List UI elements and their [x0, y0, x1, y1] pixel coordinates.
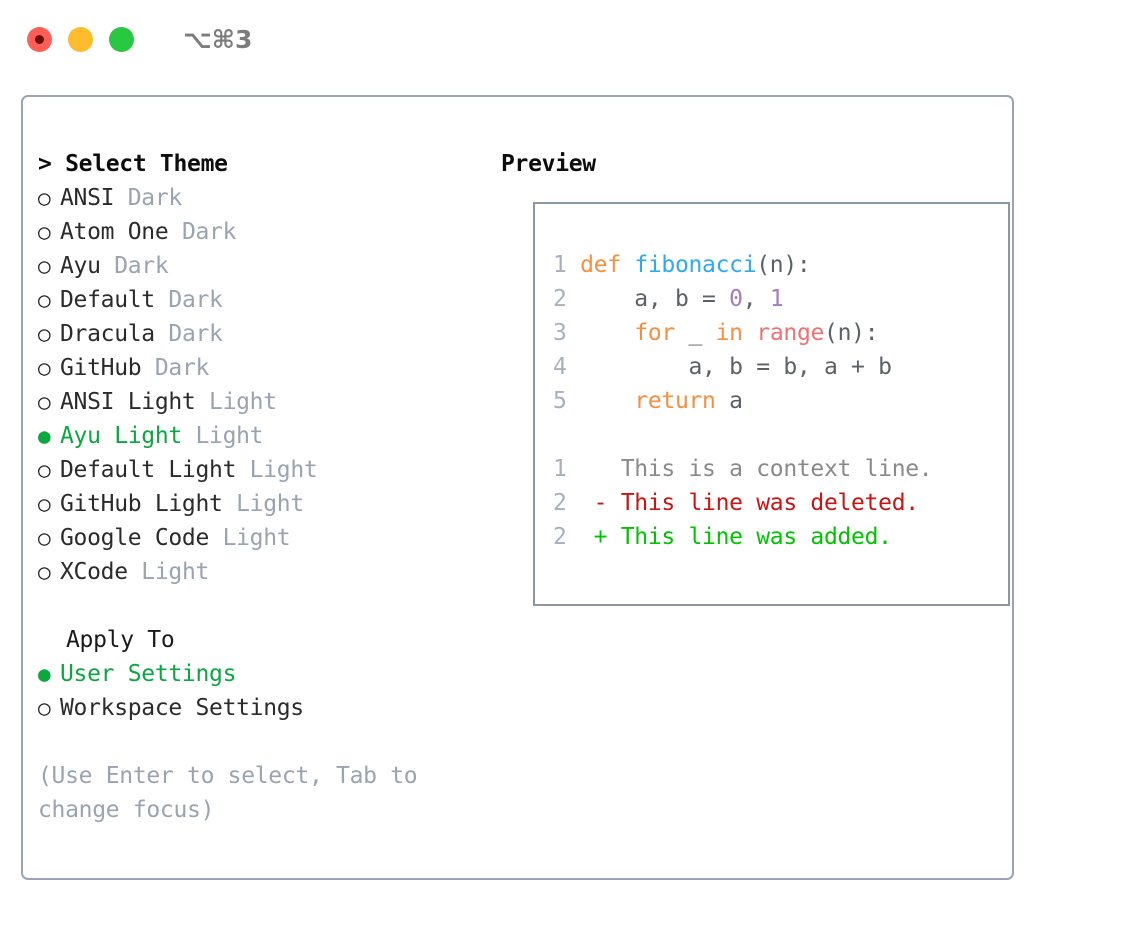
theme-item-label: Ayu	[60, 249, 101, 283]
theme-item-label: XCode	[60, 555, 128, 589]
apply-to-item-label: Workspace Settings	[60, 691, 304, 725]
code-line-2: 3 for _ in range(n):	[553, 316, 932, 350]
code-token	[580, 388, 634, 414]
theme-item-variant-badge: Light	[195, 385, 276, 419]
code-token: (n):	[824, 320, 878, 346]
code-line-number: 1	[553, 252, 580, 278]
apply-to-heading: Apply To	[38, 623, 493, 657]
theme-item-1[interactable]: ○Atom One Dark	[38, 215, 493, 249]
theme-item-variant-badge: Dark	[168, 215, 236, 249]
code-token	[743, 320, 757, 346]
diff-line-text: + This line was added.	[580, 524, 892, 550]
theme-item-2[interactable]: ○Ayu Dark	[38, 249, 493, 283]
theme-item-6[interactable]: ○ANSI Light Light	[38, 385, 493, 419]
code-token: return	[634, 388, 715, 414]
code-line-3: 4 a, b = b, a + b	[553, 350, 932, 384]
main-card: > Select Theme ○ANSI Dark○Atom One Dark○…	[21, 95, 1014, 880]
preview-heading: Preview	[501, 147, 1001, 181]
minimize-button[interactable]	[68, 27, 93, 52]
theme-item-label: Default	[60, 283, 155, 317]
title-bar: ⌥⌘3	[0, 0, 1140, 78]
radio-unselected-icon: ○	[38, 215, 60, 249]
theme-item-variant-badge: Dark	[101, 249, 169, 283]
apply-to-item-0[interactable]: ●User Settings	[38, 657, 493, 691]
preview-column: Preview 1 def fibonacci(n):2 a, b = 0, 1…	[501, 147, 1001, 181]
code-line-4: 5 return a	[553, 384, 932, 418]
radio-unselected-icon: ○	[38, 249, 60, 283]
radio-unselected-icon: ○	[38, 385, 60, 419]
code-token: ,	[743, 286, 770, 312]
code-token	[580, 320, 634, 346]
theme-item-11[interactable]: ○XCode Light	[38, 555, 493, 589]
diff-line-2: 2 + This line was added.	[553, 520, 932, 554]
radio-unselected-icon: ○	[38, 487, 60, 521]
close-button[interactable]	[27, 27, 52, 52]
diff-line-text: This is a context line.	[580, 456, 932, 482]
theme-item-label: Google Code	[60, 521, 209, 555]
theme-item-label: Dracula	[60, 317, 155, 351]
theme-item-3[interactable]: ○Default Dark	[38, 283, 493, 317]
diff-line-0: 1 This is a context line.	[553, 452, 932, 486]
code-token: 0	[729, 286, 743, 312]
code-token: a, b = b, a + b	[580, 354, 892, 380]
theme-item-variant-badge: Light	[223, 487, 304, 521]
theme-item-label: Default Light	[60, 453, 236, 487]
code-token: (n):	[756, 252, 810, 278]
radio-unselected-icon: ○	[38, 453, 60, 487]
radio-unselected-icon: ○	[38, 691, 60, 725]
theme-item-variant-badge: Light	[128, 555, 209, 589]
theme-selection-column: > Select Theme ○ANSI Dark○Atom One Dark○…	[38, 147, 493, 827]
code-diff-separator	[553, 418, 932, 452]
code-token: for	[634, 320, 675, 346]
section-divider	[38, 589, 493, 623]
radio-unselected-icon: ○	[38, 181, 60, 215]
code-line-1: 2 a, b = 0, 1	[553, 282, 932, 316]
radio-selected-icon: ●	[38, 657, 60, 691]
theme-item-8[interactable]: ○Default Light Light	[38, 453, 493, 487]
theme-item-variant-badge: Dark	[114, 181, 182, 215]
code-token: range	[756, 320, 824, 346]
code-line-number: 2	[553, 286, 580, 312]
diff-line-1: 2 - This line was deleted.	[553, 486, 932, 520]
theme-item-label: ANSI Light	[60, 385, 195, 419]
theme-item-4[interactable]: ○Dracula Dark	[38, 317, 493, 351]
apply-to-item-label: User Settings	[60, 657, 236, 691]
theme-list: ○ANSI Dark○Atom One Dark○Ayu Dark○Defaul…	[38, 181, 493, 589]
theme-item-label: GitHub	[60, 351, 141, 385]
theme-item-variant-badge: Light	[236, 453, 317, 487]
code-token: 1	[770, 286, 784, 312]
diff-line-number: 1	[553, 456, 580, 482]
radio-unselected-icon: ○	[38, 555, 60, 589]
theme-item-label: GitHub Light	[60, 487, 223, 521]
radio-selected-icon: ●	[38, 419, 60, 453]
theme-item-variant-badge: Dark	[141, 351, 209, 385]
recording-indicator-icon	[35, 35, 44, 44]
theme-item-0[interactable]: ○ANSI Dark	[38, 181, 493, 215]
app-window: ⌥⌘3 > Select Theme ○ANSI Dark○Atom One D…	[0, 0, 1140, 934]
code-token: fibonacci	[634, 252, 756, 278]
theme-item-variant-badge: Dark	[155, 283, 223, 317]
code-line-0: 1 def fibonacci(n):	[553, 248, 932, 282]
code-preview-area: 1 def fibonacci(n):2 a, b = 0, 13 for _ …	[553, 248, 932, 554]
code-line-number: 5	[553, 388, 580, 414]
diff-line-number: 2	[553, 490, 580, 516]
diff-line-text: - This line was deleted.	[580, 490, 919, 516]
radio-unselected-icon: ○	[38, 351, 60, 385]
apply-to-list: ●User Settings○Workspace Settings	[38, 657, 493, 725]
theme-item-label: Ayu Light	[60, 419, 182, 453]
theme-item-9[interactable]: ○GitHub Light Light	[38, 487, 493, 521]
keyboard-hint-text: (Use Enter to select, Tab to change focu…	[38, 759, 458, 827]
theme-item-5[interactable]: ○GitHub Dark	[38, 351, 493, 385]
code-token: _	[675, 320, 716, 346]
radio-unselected-icon: ○	[38, 317, 60, 351]
preview-box: 1 def fibonacci(n):2 a, b = 0, 13 for _ …	[533, 202, 1010, 606]
keyboard-shortcut-label: ⌥⌘3	[183, 25, 252, 54]
radio-unselected-icon: ○	[38, 283, 60, 317]
diff-line-number: 2	[553, 524, 580, 550]
code-line-number: 3	[553, 320, 580, 346]
code-token: a, b =	[580, 286, 729, 312]
code-line-number: 4	[553, 354, 580, 380]
theme-item-variant-badge: Light	[182, 419, 263, 453]
code-token: a	[716, 388, 743, 414]
apply-to-item-1[interactable]: ○Workspace Settings	[38, 691, 493, 725]
theme-item-7[interactable]: ●Ayu Light Light	[38, 419, 493, 453]
maximize-button[interactable]	[109, 27, 134, 52]
theme-item-label: ANSI	[60, 181, 114, 215]
code-token: in	[716, 320, 743, 346]
code-token: def	[580, 252, 634, 278]
theme-item-variant-badge: Light	[209, 521, 290, 555]
theme-item-variant-badge: Dark	[155, 317, 223, 351]
select-theme-heading: > Select Theme	[38, 147, 493, 181]
theme-item-10[interactable]: ○Google Code Light	[38, 521, 493, 555]
theme-item-label: Atom One	[60, 215, 168, 249]
radio-unselected-icon: ○	[38, 521, 60, 555]
